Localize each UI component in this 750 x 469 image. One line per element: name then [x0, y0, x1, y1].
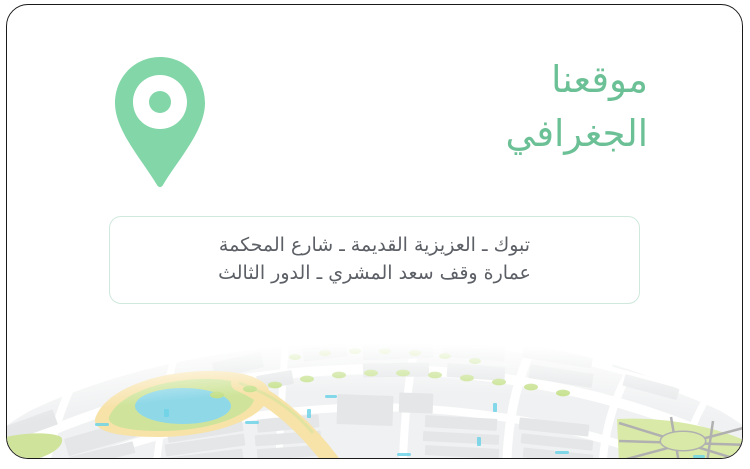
location-card: موقعنا الجغرافي تبوك ـ العزيزية القديمة … [6, 4, 743, 459]
address-line-2: عمارة وقف سعد المشري ـ الدور الثالث [128, 259, 621, 287]
map-pin-icon [105, 53, 215, 193]
address-box: تبوك ـ العزيزية القديمة ـ شارع المحكمة ع… [109, 216, 640, 304]
address-line-1: تبوك ـ العزيزية القديمة ـ شارع المحكمة [128, 231, 621, 259]
city-map-illustration [7, 323, 743, 458]
title-line-1: موقعنا [328, 53, 648, 107]
page-title: موقعنا الجغرافي [328, 53, 648, 161]
card-header: موقعنا الجغرافي [7, 5, 742, 205]
title-line-2: الجغرافي [328, 107, 648, 161]
